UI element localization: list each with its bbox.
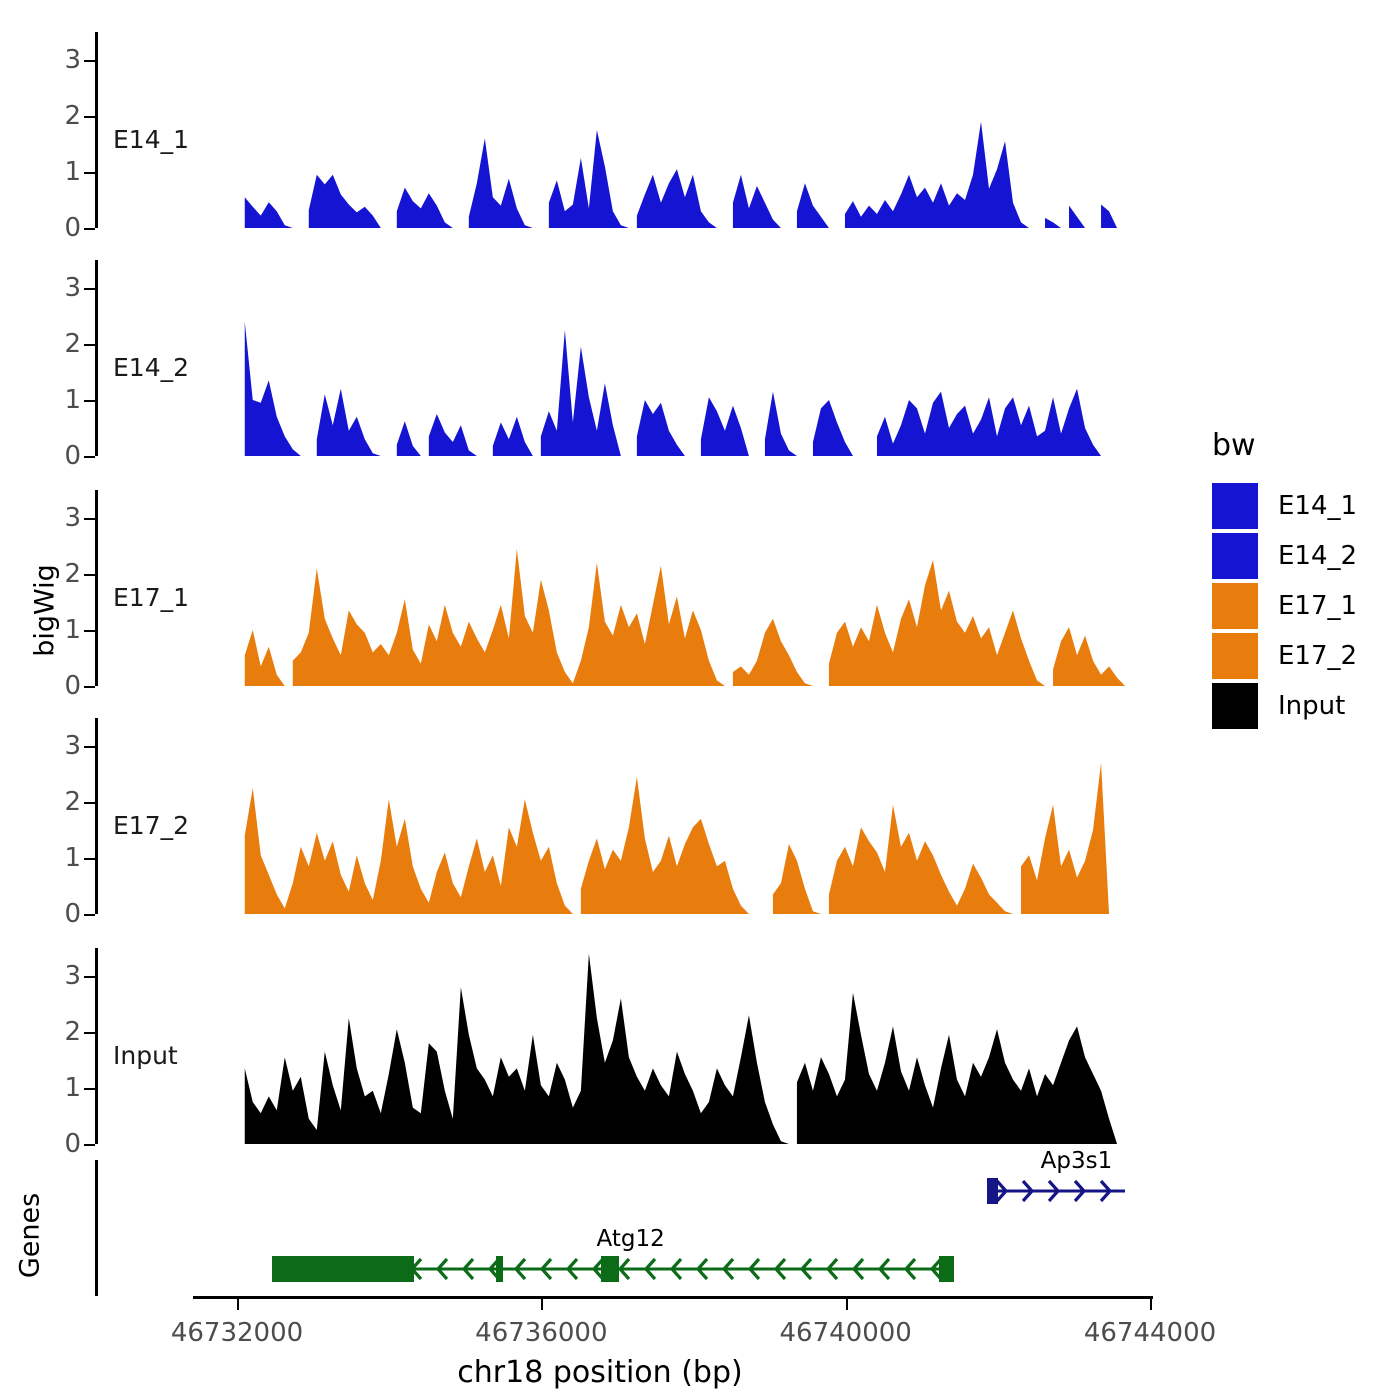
gene-exon bbox=[987, 1178, 998, 1204]
legend-item-e17_2[interactable]: E17_2 bbox=[1212, 631, 1392, 681]
y-tick bbox=[84, 746, 95, 748]
signal-area-e17_1 bbox=[95, 490, 1145, 686]
legend-label: Input bbox=[1278, 691, 1345, 721]
y-tick-label: 0 bbox=[64, 213, 81, 243]
y-tick bbox=[84, 802, 95, 804]
y-tick bbox=[84, 976, 95, 978]
x-axis-title: chr18 position (bp) bbox=[0, 1355, 1200, 1390]
genes-axis-spine bbox=[95, 1160, 98, 1296]
x-tick bbox=[541, 1299, 543, 1310]
y-tick-label: 0 bbox=[64, 899, 81, 929]
y-tick bbox=[84, 1032, 95, 1034]
signal-panel-e14_1: 0123E14_1 bbox=[95, 32, 1145, 228]
legend-swatch bbox=[1212, 583, 1258, 629]
y-tick bbox=[84, 518, 95, 520]
x-tick-label: 46740000 bbox=[779, 1318, 911, 1348]
y-tick bbox=[84, 686, 95, 688]
y-tick bbox=[84, 914, 95, 916]
y-tick-label: 0 bbox=[64, 441, 81, 471]
legend-label: E14_2 bbox=[1278, 541, 1357, 571]
legend-title: bw bbox=[1212, 428, 1392, 463]
y-tick-label: 1 bbox=[64, 1073, 81, 1103]
y-tick-label: 2 bbox=[64, 1017, 81, 1047]
legend-item-e14_1[interactable]: E14_1 bbox=[1212, 481, 1392, 531]
legend-item-input[interactable]: Input bbox=[1212, 681, 1392, 731]
x-tick bbox=[1150, 1299, 1152, 1310]
signal-area-input bbox=[95, 948, 1145, 1144]
x-tick-label: 46736000 bbox=[475, 1318, 607, 1348]
signal-panel-e14_2: 0123E14_2 bbox=[95, 260, 1145, 456]
y-tick bbox=[84, 288, 95, 290]
x-tick-label: 46744000 bbox=[1084, 1318, 1216, 1348]
y-tick bbox=[84, 858, 95, 860]
legend-item-e14_2[interactable]: E14_2 bbox=[1212, 531, 1392, 581]
y-tick-label: 3 bbox=[64, 45, 81, 75]
y-tick-label: 1 bbox=[64, 385, 81, 415]
y-tick-label: 3 bbox=[64, 961, 81, 991]
y-tick-label: 1 bbox=[64, 615, 81, 645]
signal-panel-input: 0123Input bbox=[95, 948, 1145, 1144]
signal-panel-e17_2: 0123E17_2 bbox=[95, 718, 1145, 914]
x-tick bbox=[846, 1299, 848, 1310]
y-tick bbox=[84, 228, 95, 230]
y-tick-label: 3 bbox=[64, 273, 81, 303]
gene-label: Atg12 bbox=[597, 1226, 665, 1252]
gene-label: Ap3s1 bbox=[1041, 1148, 1113, 1174]
y-tick-label: 2 bbox=[64, 787, 81, 817]
signal-area-e14_1 bbox=[95, 32, 1145, 228]
gene-strand-arrows bbox=[987, 1174, 1125, 1208]
signal-area-e17_2 bbox=[95, 718, 1145, 914]
y-tick bbox=[84, 630, 95, 632]
legend-label: E14_1 bbox=[1278, 491, 1357, 521]
y-tick bbox=[84, 116, 95, 118]
legend-swatch bbox=[1212, 633, 1258, 679]
legend-swatch bbox=[1212, 683, 1258, 729]
y-tick-label: 0 bbox=[64, 1129, 81, 1159]
gene-ap3s1[interactable]: Ap3s1 bbox=[987, 1174, 1125, 1208]
genome-browser-figure: bigWig Genes 0123E14_10123E14_20123E17_1… bbox=[0, 0, 1400, 1400]
legend: bw E14_1E14_2E17_1E17_2Input bbox=[1212, 428, 1392, 731]
y-tick-label: 0 bbox=[64, 671, 81, 701]
x-tick bbox=[237, 1299, 239, 1310]
y-tick bbox=[84, 574, 95, 576]
legend-swatch bbox=[1212, 533, 1258, 579]
gene-exon bbox=[272, 1256, 414, 1282]
y-tick-label: 3 bbox=[64, 731, 81, 761]
y-tick-label: 1 bbox=[64, 157, 81, 187]
genes-track-panel: Ap3s1Atg12 bbox=[95, 1160, 1145, 1296]
legend-item-e17_1[interactable]: E17_1 bbox=[1212, 581, 1392, 631]
legend-swatch bbox=[1212, 483, 1258, 529]
y-tick bbox=[84, 456, 95, 458]
y-tick bbox=[84, 1088, 95, 1090]
gene-exon bbox=[496, 1256, 503, 1282]
y-tick bbox=[84, 172, 95, 174]
legend-label: E17_2 bbox=[1278, 641, 1357, 671]
legend-label: E17_1 bbox=[1278, 591, 1357, 621]
y-tick-label: 3 bbox=[64, 503, 81, 533]
y-tick-label: 2 bbox=[64, 101, 81, 131]
x-tick-label: 46732000 bbox=[171, 1318, 303, 1348]
y-tick-label: 1 bbox=[64, 843, 81, 873]
signal-panel-e17_1: 0123E17_1 bbox=[95, 490, 1145, 686]
y-tick bbox=[84, 344, 95, 346]
y-tick bbox=[84, 400, 95, 402]
y-tick-label: 2 bbox=[64, 559, 81, 589]
y-tick bbox=[84, 60, 95, 62]
gene-atg12[interactable]: Atg12 bbox=[272, 1252, 954, 1286]
gene-exon bbox=[939, 1256, 955, 1282]
legend-rows: E14_1E14_2E17_1E17_2Input bbox=[1212, 481, 1392, 731]
gene-exon bbox=[601, 1256, 619, 1282]
x-axis-line: 46732000467360004674000046744000 bbox=[193, 1296, 1153, 1299]
y-tick bbox=[84, 1144, 95, 1146]
y-tick-label: 2 bbox=[64, 329, 81, 359]
signal-area-e14_2 bbox=[95, 260, 1145, 456]
genes-axis-title: Genes bbox=[15, 1146, 46, 1326]
y-axis-group-title: bigWig bbox=[30, 511, 61, 711]
